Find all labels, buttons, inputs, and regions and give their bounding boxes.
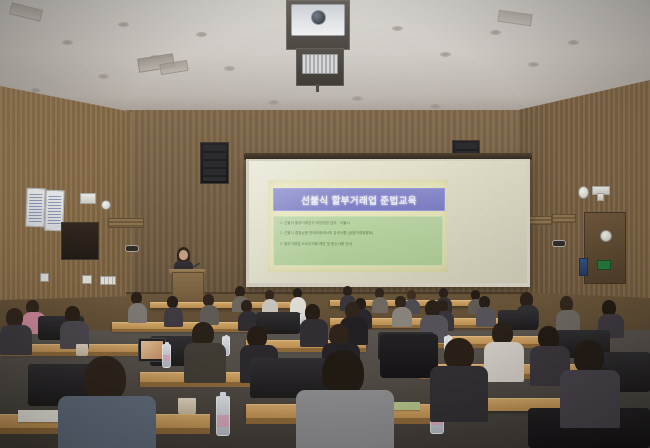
wall-outlet-left <box>40 273 49 282</box>
handbag <box>380 334 438 378</box>
wall-air-vent-right-1 <box>528 216 552 225</box>
wall-speaker-small-left <box>125 245 139 252</box>
wall-speaker-small-right <box>552 240 566 247</box>
projector-mount-stem <box>316 84 319 92</box>
ceiling-downlight <box>196 32 207 37</box>
ceiling-downlight <box>490 30 501 35</box>
water-bottle <box>216 396 230 436</box>
ceiling-downlight <box>568 40 579 45</box>
paper-cup <box>178 398 196 414</box>
exit-sign-icon <box>597 260 611 270</box>
paper-handout <box>390 402 420 410</box>
projector-vent-grill <box>302 54 338 74</box>
slide-title: 선불식 할부거래업 준법교육 <box>301 193 417 207</box>
left-doorway <box>61 222 99 260</box>
ceiling-downlight <box>118 22 129 27</box>
ceiling-downlight <box>224 66 235 71</box>
slide-bullet: 2. 선불식 결합상품 판매과정에서의 유의사항 (공정거래위원회) <box>280 232 436 236</box>
paper-cup <box>76 344 88 356</box>
wall-clock-right-icon <box>578 186 589 199</box>
ceiling-downlight <box>62 40 73 45</box>
wall-clock-left-icon <box>101 200 111 210</box>
paper-handout <box>18 410 58 422</box>
ceiling-downlight <box>98 74 109 79</box>
right-doorway <box>584 212 626 284</box>
slide-bullet: 1. 선불식 할부거래업자 부당영업 금지 · 서울시 <box>280 222 436 226</box>
slide-title-band: 선불식 할부거래업 준법교육 <box>273 188 445 211</box>
wall-clock-right-2-icon <box>600 230 612 242</box>
ceiling-downlight <box>528 62 539 67</box>
wall-speaker-left <box>200 142 229 184</box>
wall-air-vent-left <box>108 218 144 228</box>
wall-info-panel-right <box>579 258 588 276</box>
ceiling-downlight <box>392 26 403 31</box>
projector-lens-icon <box>311 10 326 25</box>
wall-switch-panel-left <box>100 276 116 285</box>
notice-board-left-1 <box>25 188 45 228</box>
presenter-head <box>179 250 188 260</box>
wall-air-vent-right-2 <box>552 214 576 223</box>
wall-outlet-left-2 <box>82 275 92 284</box>
slide-body-panel: 1. 선불식 할부거래업자 부당영업 금지 · 서울시 2. 선불식 결합상품 … <box>273 216 443 266</box>
slide-bullet: 3. 할부거래법 소비자피해 예방 및 준수사항 안내 <box>280 243 436 247</box>
lecture-hall-photo: 선불식 할부거래업 준법교육 1. 선불식 할부거래업자 부당영업 금지 · 서… <box>0 0 650 448</box>
water-bottle <box>162 344 171 368</box>
ceiling-downlight <box>440 52 451 57</box>
wall-mounted-fixture-left <box>80 193 96 204</box>
wall-fixture-stem-right <box>597 193 604 201</box>
projected-slide: 선불식 할부거래업 준법교육 1. 선불식 할부거래업자 부당영업 금지 · 서… <box>268 180 448 272</box>
